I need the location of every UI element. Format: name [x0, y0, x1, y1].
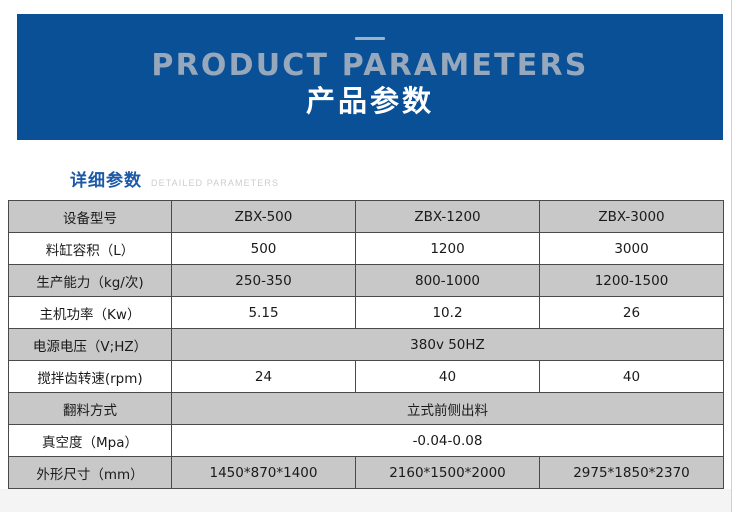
row-value-cell: 10.2 [356, 297, 540, 329]
row-label-cell: 外形尺寸（mm） [9, 457, 172, 489]
row-label-cell: 设备型号 [9, 201, 172, 233]
table-row: 电源电压（V;HZ）380v 50HZ [9, 329, 724, 361]
table-row: 真空度（Mpa）-0.04-0.08 [9, 425, 724, 457]
parameters-table-body: 设备型号ZBX-500ZBX-1200ZBX-3000料缸容积（L）500120… [9, 201, 724, 489]
row-value-cell-merged: 立式前侧出料 [172, 393, 724, 425]
table-row: 料缸容积（L）50012003000 [9, 233, 724, 265]
page-bottom-filler [0, 489, 731, 512]
section-title-english: DETAILED PARAMETERS [151, 178, 279, 188]
row-value-cell: 2160*1500*2000 [356, 457, 540, 489]
table-row: 翻料方式立式前侧出料 [9, 393, 724, 425]
row-value-cell: 1200-1500 [540, 265, 724, 297]
row-label-cell: 搅拌齿转速(rpm) [9, 361, 172, 393]
row-value-cell: 800-1000 [356, 265, 540, 297]
section-heading: 详细参数 DETAILED PARAMETERS [70, 166, 279, 191]
section-title-chinese: 详细参数 [70, 166, 142, 191]
row-label-cell: 主机功率（Kw） [9, 297, 172, 329]
row-value-cell: 5.15 [172, 297, 356, 329]
table-row: 生产能力（kg/次)250-350800-10001200-1500 [9, 265, 724, 297]
hero-title-english: PRODUCT PARAMETERS [17, 50, 723, 82]
row-label-cell: 电源电压（V;HZ） [9, 329, 172, 361]
row-value-cell: ZBX-1200 [356, 201, 540, 233]
page-right-rail [731, 0, 737, 512]
table-row: 搅拌齿转速(rpm)244040 [9, 361, 724, 393]
hero-title-chinese: 产品参数 [17, 85, 723, 118]
row-value-cell: 2975*1850*2370 [540, 457, 724, 489]
table-row: 设备型号ZBX-500ZBX-1200ZBX-3000 [9, 201, 724, 233]
table-row: 外形尺寸（mm）1450*870*14002160*1500*20002975*… [9, 457, 724, 489]
hero-divider-line [355, 37, 385, 40]
row-value-cell-merged: 380v 50HZ [172, 329, 724, 361]
row-label-cell: 翻料方式 [9, 393, 172, 425]
row-value-cell-merged: -0.04-0.08 [172, 425, 724, 457]
parameters-table: 设备型号ZBX-500ZBX-1200ZBX-3000料缸容积（L）500120… [8, 200, 724, 489]
row-value-cell: ZBX-3000 [540, 201, 724, 233]
row-value-cell: 40 [356, 361, 540, 393]
row-value-cell: 1450*870*1400 [172, 457, 356, 489]
row-value-cell: ZBX-500 [172, 201, 356, 233]
row-label-cell: 真空度（Mpa） [9, 425, 172, 457]
row-value-cell: 26 [540, 297, 724, 329]
row-label-cell: 料缸容积（L） [9, 233, 172, 265]
row-value-cell: 40 [540, 361, 724, 393]
row-value-cell: 1200 [356, 233, 540, 265]
row-value-cell: 250-350 [172, 265, 356, 297]
table-row: 主机功率（Kw）5.1510.226 [9, 297, 724, 329]
product-parameters-page: PRODUCT PARAMETERS 产品参数 详细参数 DETAILED PA… [0, 0, 737, 512]
row-value-cell: 3000 [540, 233, 724, 265]
row-label-cell: 生产能力（kg/次) [9, 265, 172, 297]
hero-banner: PRODUCT PARAMETERS 产品参数 [17, 14, 723, 140]
row-value-cell: 24 [172, 361, 356, 393]
parameters-table-container: 设备型号ZBX-500ZBX-1200ZBX-3000料缸容积（L）500120… [8, 200, 723, 489]
row-value-cell: 500 [172, 233, 356, 265]
